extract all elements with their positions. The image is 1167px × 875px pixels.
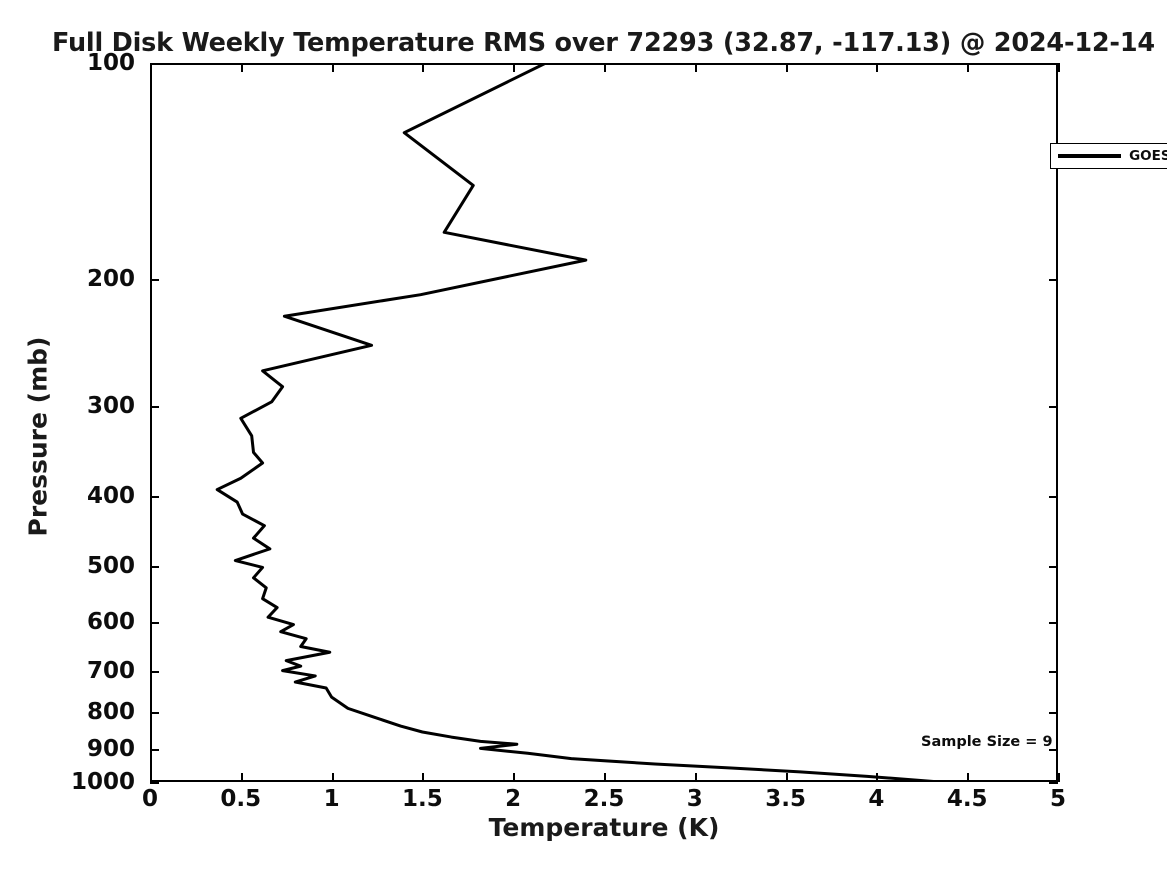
x-axis-title: Temperature (K) <box>150 813 1058 842</box>
y-tick-right-700 <box>1049 671 1058 673</box>
y-tick-label-900: 900 <box>0 736 135 762</box>
x-tick-5 <box>1058 773 1060 782</box>
y-tick-right-100 <box>1049 63 1058 65</box>
legend-label-goes16: GOES-16 <box>1129 148 1167 164</box>
x-tick-label-1: 1 <box>324 786 340 812</box>
sample-size-annotation: Sample Size = 9 <box>921 734 1053 750</box>
y-tick-label-700: 700 <box>0 658 135 684</box>
x-tick-top-2 <box>513 63 515 72</box>
y-tick-label-600: 600 <box>0 609 135 635</box>
x-tick-label-5: 5 <box>1050 786 1066 812</box>
y-tick-right-300 <box>1049 406 1058 408</box>
x-tick-3 <box>695 773 697 782</box>
legend-line-swatch <box>1058 154 1121 158</box>
x-tick-2.5 <box>604 773 606 782</box>
chart-canvas: Full Disk Weekly Temperature RMS over 72… <box>0 0 1167 875</box>
x-tick-top-1 <box>332 63 334 72</box>
y-tick-right-800 <box>1049 712 1058 714</box>
page-title: Full Disk Weekly Temperature RMS over 72… <box>52 28 1162 58</box>
x-tick-label-0: 0 <box>142 786 158 812</box>
x-tick-top-0.5 <box>241 63 243 72</box>
y-tick-label-800: 800 <box>0 699 135 725</box>
y-tick-label-300: 300 <box>0 393 135 419</box>
y-axis-title: Pressure (mb) <box>24 307 53 567</box>
y-tick-500 <box>150 566 159 568</box>
x-tick-1 <box>332 773 334 782</box>
x-tick-label-3: 3 <box>687 786 703 812</box>
y-tick-label-200: 200 <box>0 266 135 292</box>
x-tick-top-5 <box>1058 63 1060 72</box>
x-tick-label-4: 4 <box>868 786 884 812</box>
plot-area: GOES-16 <box>150 63 1058 782</box>
x-tick-4.5 <box>967 773 969 782</box>
y-tick-right-600 <box>1049 622 1058 624</box>
x-tick-1.5 <box>422 773 424 782</box>
y-tick-label-400: 400 <box>0 483 135 509</box>
x-tick-4 <box>876 773 878 782</box>
y-tick-right-200 <box>1049 279 1058 281</box>
x-tick-label-2.5: 2.5 <box>584 786 625 812</box>
data-series-goes16 <box>150 63 1058 782</box>
x-tick-label-2: 2 <box>505 786 521 812</box>
y-tick-100 <box>150 63 159 65</box>
x-tick-top-1.5 <box>422 63 424 72</box>
y-tick-600 <box>150 622 159 624</box>
x-tick-top-3 <box>695 63 697 72</box>
x-tick-top-4 <box>876 63 878 72</box>
y-tick-right-400 <box>1049 496 1058 498</box>
y-tick-label-100: 100 <box>0 50 135 76</box>
x-tick-label-3.5: 3.5 <box>765 786 806 812</box>
y-tick-label-500: 500 <box>0 553 135 579</box>
legend[interactable]: GOES-16 <box>1050 143 1167 169</box>
y-tick-right-500 <box>1049 566 1058 568</box>
x-tick-label-0.5: 0.5 <box>220 786 261 812</box>
x-tick-3.5 <box>786 773 788 782</box>
y-tick-300 <box>150 406 159 408</box>
x-tick-top-2.5 <box>604 63 606 72</box>
x-tick-2 <box>513 773 515 782</box>
x-tick-top-3.5 <box>786 63 788 72</box>
y-tick-400 <box>150 496 159 498</box>
x-tick-label-4.5: 4.5 <box>947 786 988 812</box>
y-tick-700 <box>150 671 159 673</box>
x-tick-0 <box>150 773 152 782</box>
x-tick-top-4.5 <box>967 63 969 72</box>
y-tick-right-1000 <box>1049 782 1058 784</box>
x-tick-label-1.5: 1.5 <box>402 786 443 812</box>
x-tick-0.5 <box>241 773 243 782</box>
y-tick-1000 <box>150 782 159 784</box>
y-tick-label-1000: 1000 <box>0 769 135 795</box>
y-tick-900 <box>150 749 159 751</box>
y-tick-800 <box>150 712 159 714</box>
y-tick-200 <box>150 279 159 281</box>
